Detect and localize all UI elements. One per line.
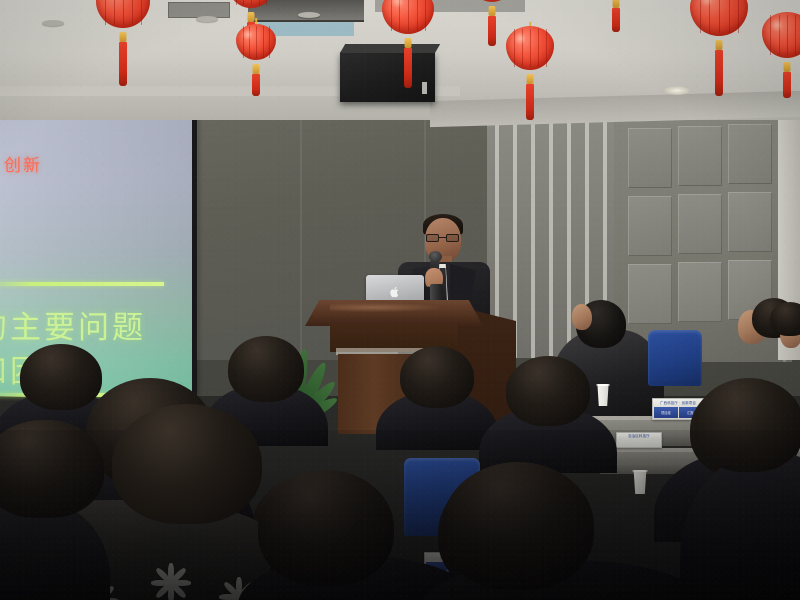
lantern-rib	[256, 26, 257, 58]
attendee-head	[694, 378, 800, 472]
ceiling-speaker-box	[340, 52, 435, 102]
lantern-highlight	[699, 0, 714, 7]
placard-cell: 项目组	[654, 407, 678, 418]
lantern-highlight	[390, 0, 404, 8]
lantern-rib	[729, 0, 730, 33]
lantern-bead	[120, 32, 127, 42]
lantern-bead	[253, 64, 260, 74]
name-placard: 自治区科技厅	[616, 432, 662, 448]
lantern-rib	[236, 0, 237, 5]
lantern-bead	[716, 40, 723, 50]
lantern-bead	[613, 0, 620, 8]
paper-cup	[632, 470, 648, 494]
lantern-rib	[738, 0, 739, 33]
podium-top-sheen	[330, 303, 440, 312]
lantern-rib	[105, 0, 106, 25]
lantern-rib	[132, 0, 133, 25]
wall-panel	[678, 262, 722, 322]
lantern-group	[96, 0, 150, 28]
lantern-rib	[141, 0, 142, 25]
wall-panel	[628, 196, 672, 256]
wall-panel	[678, 126, 722, 186]
lantern-group	[690, 0, 748, 36]
slide-header-text: 创新	[4, 151, 42, 176]
red-lantern-icon	[382, 0, 434, 34]
attendee-head	[770, 302, 800, 336]
lantern-bead	[405, 38, 412, 48]
apple-logo-icon	[390, 286, 401, 298]
lantern-group	[470, 0, 514, 2]
red-lantern-icon	[690, 0, 748, 36]
lantern-rib	[114, 0, 115, 25]
lantern-group	[382, 0, 434, 34]
lantern-rib	[538, 29, 539, 68]
attendee-head	[20, 344, 102, 410]
wall-panel	[678, 194, 722, 254]
lantern-rib	[251, 0, 252, 5]
lantern-tassel	[252, 74, 260, 96]
attendee-head	[400, 346, 474, 408]
red-lantern-icon	[236, 24, 276, 60]
cup-rim	[596, 384, 610, 386]
lantern-rib	[266, 0, 267, 5]
lantern-rib	[408, 0, 409, 31]
red-lantern-icon	[762, 12, 800, 58]
partition-slat	[549, 108, 553, 358]
lantern-rib	[259, 0, 260, 5]
lantern-group	[762, 12, 800, 58]
attendee-head	[506, 356, 590, 426]
lantern-bead	[489, 6, 496, 16]
lantern-highlight	[514, 32, 526, 45]
lantern-rib	[417, 0, 418, 31]
placard-header: 自治区科技厅	[617, 433, 661, 438]
smoke-detector-icon	[298, 12, 320, 18]
lantern-tassel	[119, 42, 127, 86]
partition-slat	[567, 108, 571, 358]
lantern-group	[236, 18, 276, 60]
projection-screen: 创新 的主要问题 和困难	[0, 96, 196, 396]
lantern-highlight	[770, 18, 783, 32]
red-lantern-icon	[228, 0, 274, 8]
ceiling-access-panel	[168, 2, 230, 18]
lantern-rib	[546, 29, 547, 68]
snowflake-motif-icon	[148, 560, 194, 600]
attendee-head	[258, 470, 394, 586]
attendee-head	[442, 462, 594, 590]
cup-rim	[632, 470, 648, 472]
placard-header: 广西科技厅 · 创新项目	[653, 399, 703, 407]
red-lantern-icon	[96, 0, 150, 28]
lantern-group	[506, 22, 554, 70]
wall-panel	[628, 264, 672, 324]
red-lantern-icon	[470, 0, 514, 2]
lantern-tassel	[404, 48, 412, 88]
lantern-highlight	[242, 29, 252, 40]
conference-room-photo: 创新 的主要问题 和困难	[0, 0, 800, 600]
lantern-bead	[527, 74, 534, 84]
partition-slat	[531, 108, 535, 358]
lantern-bead	[784, 62, 791, 72]
smoke-detector-icon	[196, 16, 218, 22]
glasses-icon	[426, 234, 460, 242]
slide-line-1: 的主要问题	[0, 302, 146, 347]
glasses-bridge	[439, 237, 446, 238]
lantern-group	[228, 0, 274, 8]
glasses-lens	[446, 234, 459, 242]
lantern-rib	[530, 29, 531, 68]
ceiling-spotlight-icon	[664, 86, 690, 95]
lantern-rib	[269, 26, 270, 58]
wall-panel	[628, 128, 672, 188]
smoke-detector-icon	[42, 20, 64, 26]
lantern-rib	[719, 0, 720, 33]
projection-screen-edge	[192, 96, 197, 396]
attendee-head	[228, 336, 304, 402]
slide-rule-top	[0, 282, 164, 286]
wall-panel	[728, 124, 772, 184]
lantern-tassel	[526, 84, 534, 120]
lantern-tassel	[783, 72, 791, 98]
lantern-highlight	[105, 0, 119, 1]
lantern-tassel	[715, 50, 723, 96]
lantern-rib	[795, 15, 796, 56]
wall-panel	[728, 192, 772, 252]
lantern-tassel	[612, 8, 620, 32]
attendee-head	[112, 404, 262, 524]
lantern-rib	[425, 0, 426, 31]
lantern-rib	[243, 0, 244, 5]
lantern-rib	[263, 26, 264, 58]
red-lantern-icon	[506, 26, 554, 70]
lantern-rib	[787, 15, 788, 56]
conference-chair[interactable]	[648, 330, 702, 386]
lantern-tassel	[488, 16, 496, 46]
attendee-face	[572, 304, 592, 330]
glasses-lens	[426, 234, 439, 242]
lantern-rib	[123, 0, 124, 25]
